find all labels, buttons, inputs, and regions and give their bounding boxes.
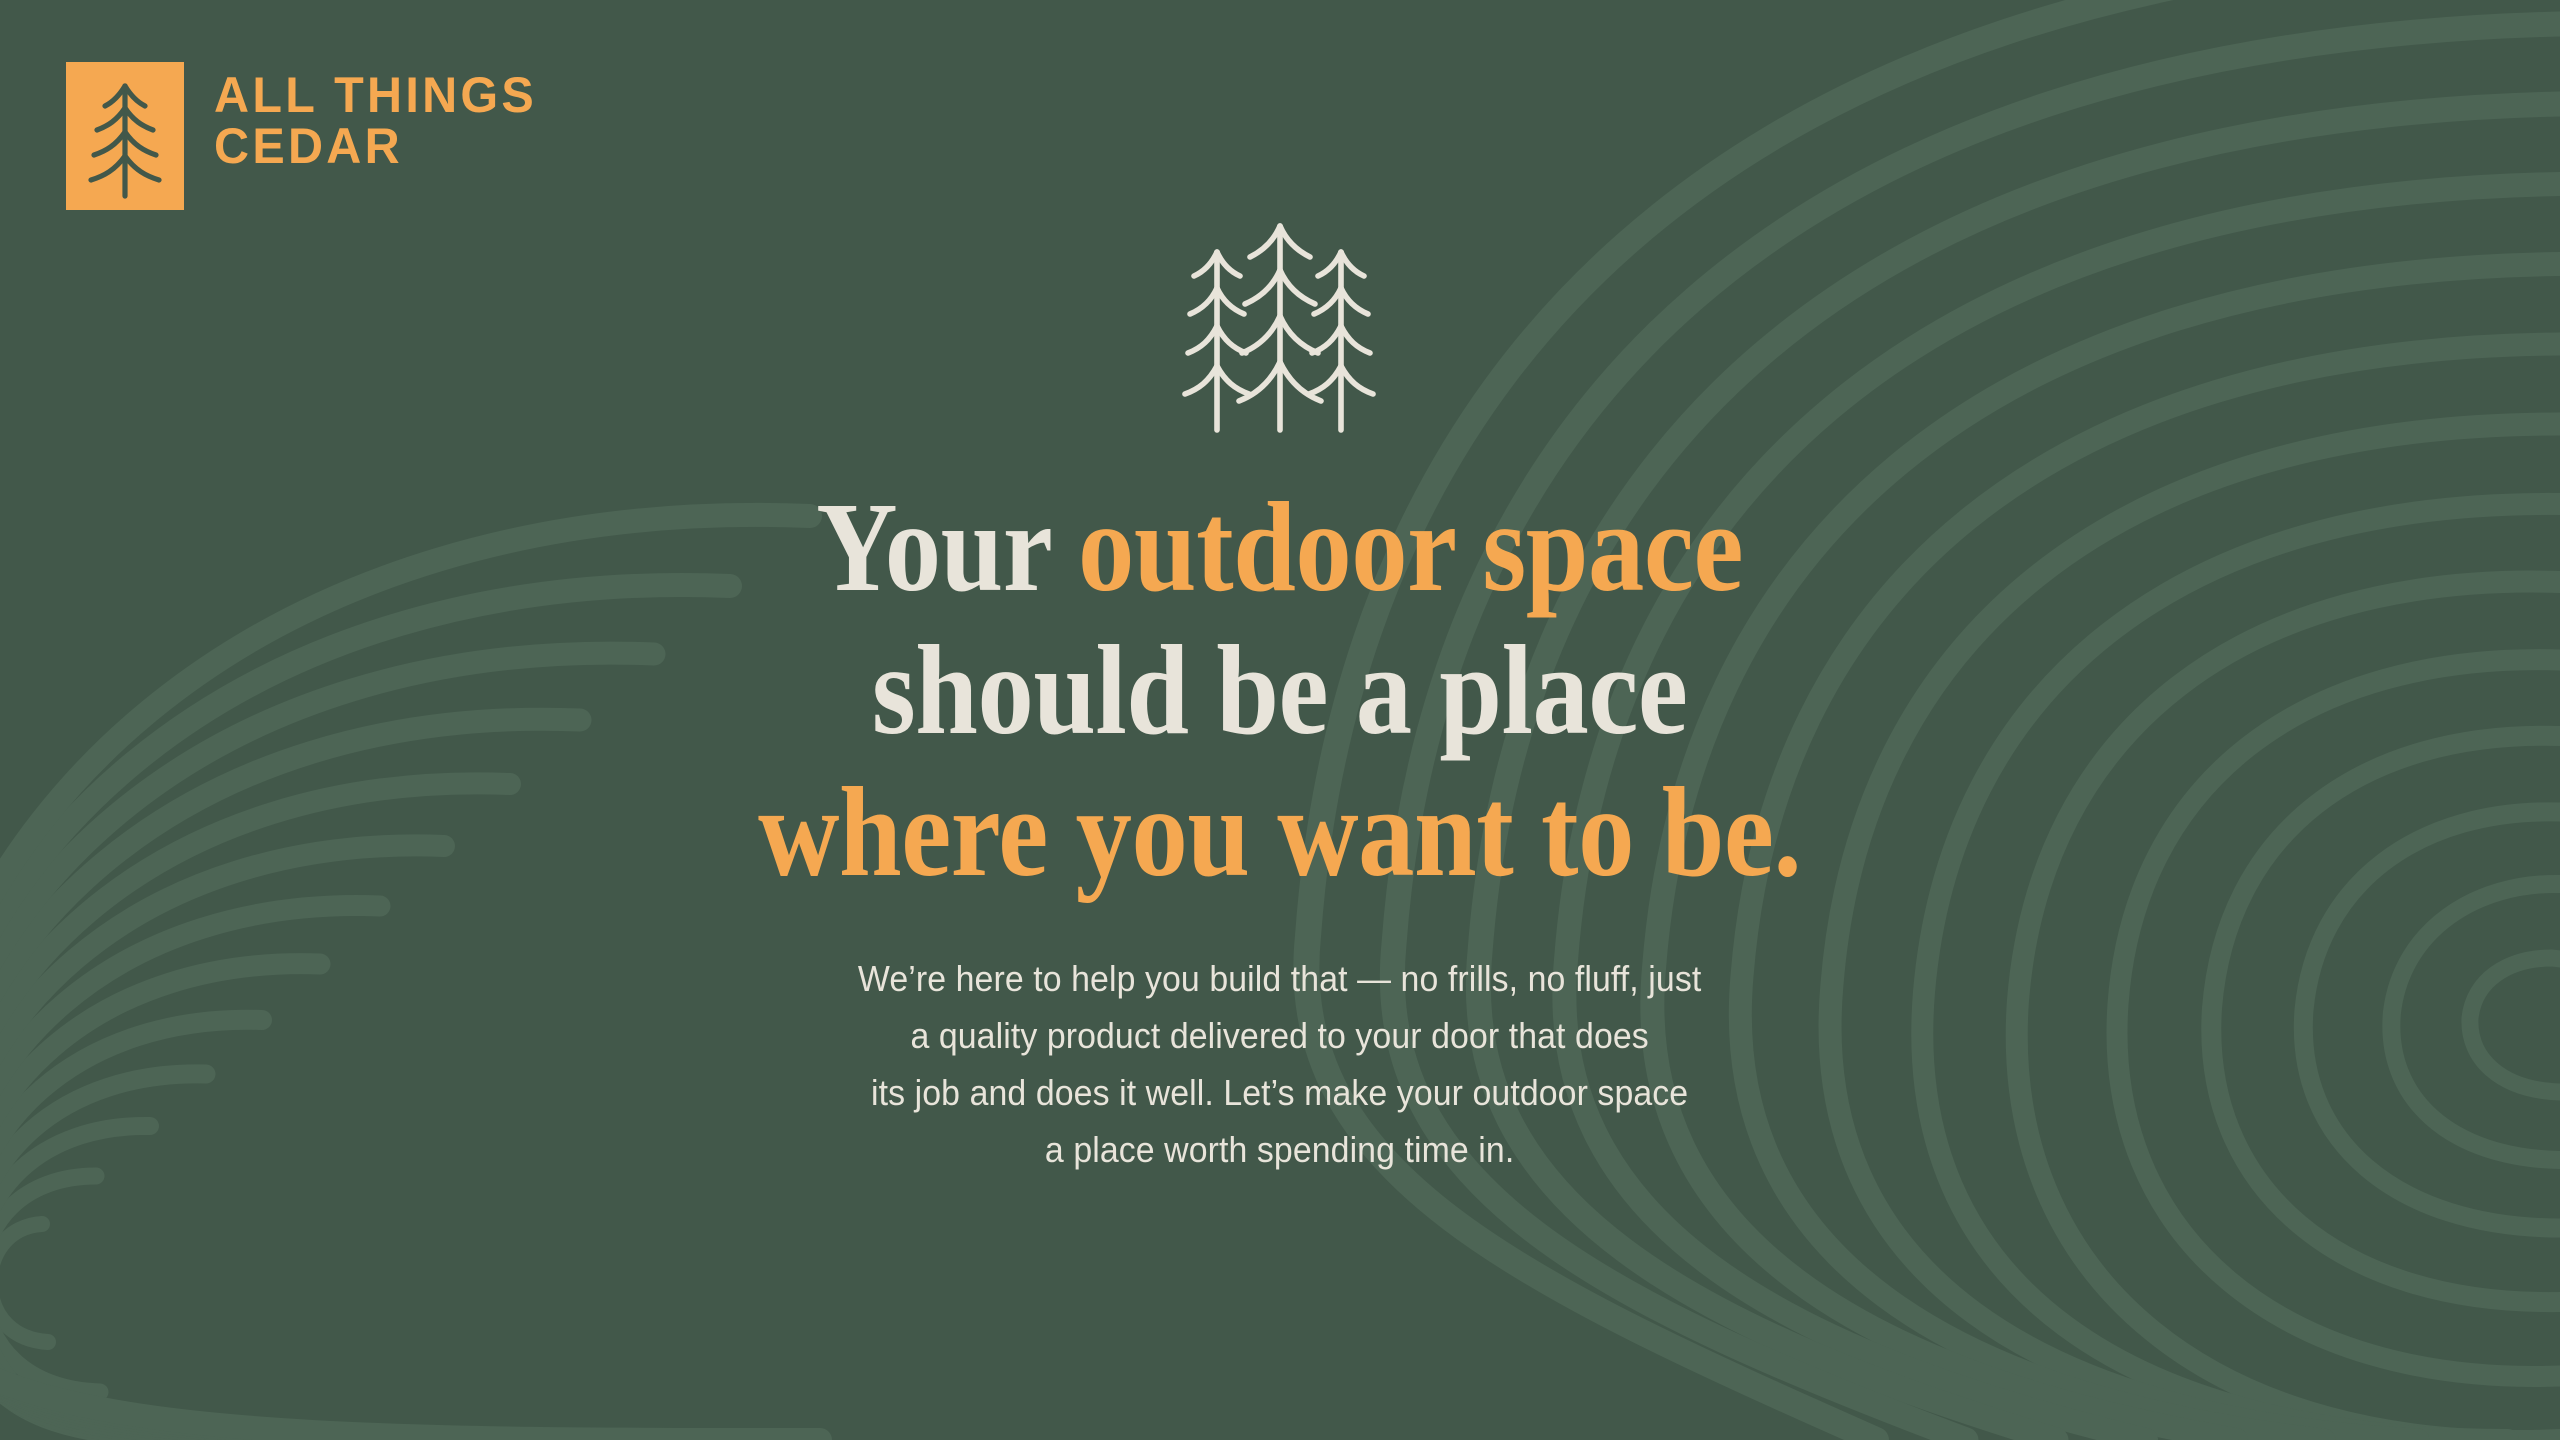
headline-line-2: should be a place <box>758 619 1801 762</box>
hero-banner: ALL THINGSCEDAR <box>0 0 2560 1440</box>
headline-segment-cream: Your <box>817 476 1079 618</box>
hero-description: We’re here to help you build that — no f… <box>858 950 1701 1178</box>
description-line-3: its job and does it well. Let’s make you… <box>858 1064 1701 1121</box>
hero-content: Your outdoor space should be a place whe… <box>0 0 2560 1178</box>
description-line-1: We’re here to help you build that — no f… <box>858 950 1701 1007</box>
headline-line-3: where you want to be. <box>758 761 1801 904</box>
page-title: Your outdoor space should be a place whe… <box>758 476 1801 904</box>
description-line-4: a place worth spending time in. <box>858 1121 1701 1178</box>
headline-segment-accent: outdoor space <box>1078 476 1743 618</box>
description-line-2: a quality product delivered to your door… <box>858 1007 1701 1064</box>
three-pine-trees-icon <box>1173 216 1388 438</box>
headline-line-1: Your outdoor space <box>758 476 1801 619</box>
